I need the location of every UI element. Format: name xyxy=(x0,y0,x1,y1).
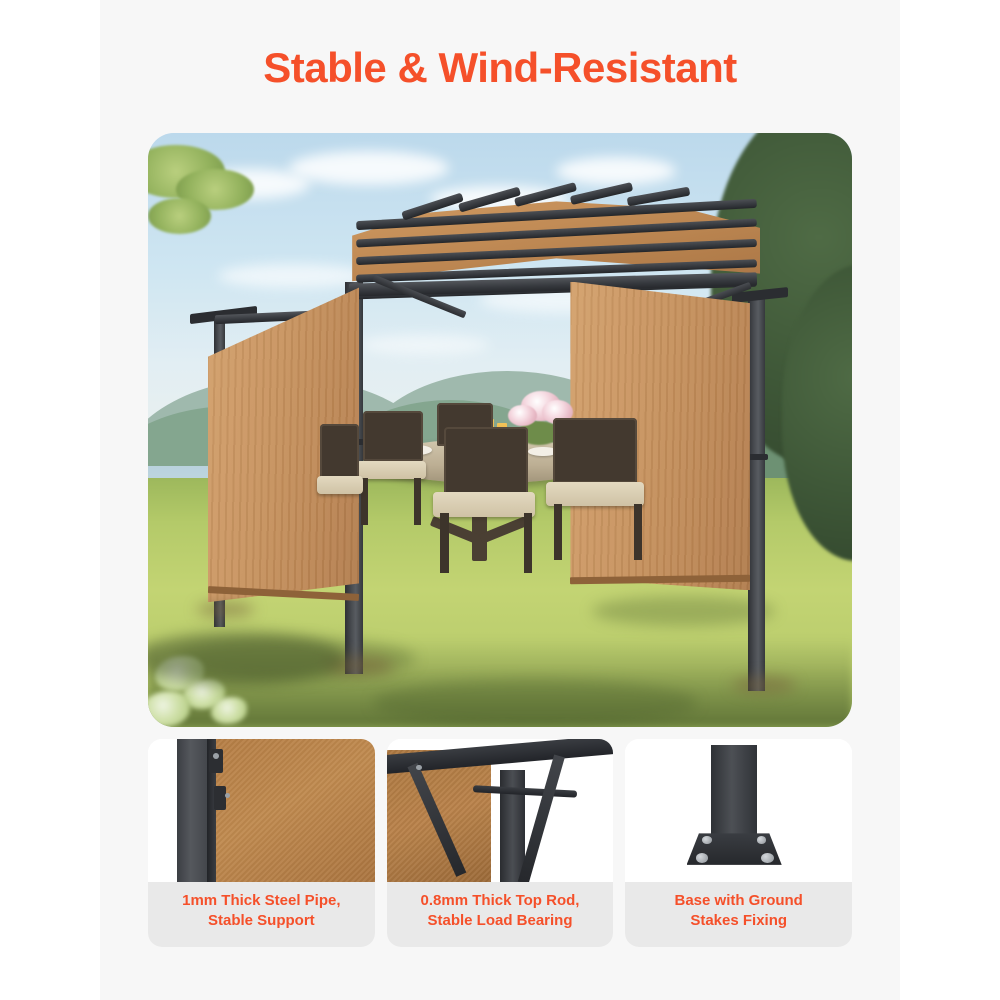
feature-card-ground-stakes[interactable]: Base with Ground Stakes Fixing xyxy=(625,739,852,947)
post-foot-shadow xyxy=(732,677,795,694)
post-foot-shadow xyxy=(197,602,253,616)
feature-card-image-steel-pipe xyxy=(148,739,375,882)
bracket-screw xyxy=(416,765,421,770)
feature-card-top-rod[interactable]: 0.8mm Thick Top Rod, Stable Load Bearing xyxy=(387,739,614,947)
canopy-fabric xyxy=(216,739,375,882)
chair-back xyxy=(363,411,423,461)
feature-card-image-top-rod xyxy=(387,739,614,882)
rafter-tip xyxy=(570,182,634,205)
feature-card-steel-pipe[interactable]: 1mm Thick Steel Pipe, Stable Support xyxy=(148,739,375,947)
chair-leg xyxy=(440,513,448,572)
post-front-right xyxy=(748,299,765,691)
bolt-hole xyxy=(757,836,767,843)
chair-cushion xyxy=(317,476,363,494)
pipe-screw xyxy=(213,753,219,759)
chair-back xyxy=(444,427,528,495)
pipe-clip-lower xyxy=(214,786,226,810)
chair-back xyxy=(320,424,359,477)
chair-cushion xyxy=(356,461,426,479)
flower-bouquet xyxy=(508,405,536,426)
feature-card-row: 1mm Thick Steel Pipe, Stable Support 0.8… xyxy=(148,739,852,947)
steel-pipe xyxy=(177,739,206,882)
feature-card-caption-steel-pipe: 1mm Thick Steel Pipe, Stable Support xyxy=(148,882,375,947)
chair-leg xyxy=(554,504,562,560)
feature-card-image-ground-stakes xyxy=(625,739,852,882)
feature-card-caption-top-rod: 0.8mm Thick Top Rod, Stable Load Bearing xyxy=(387,882,614,947)
product-feature-page: Stable & Wind-Resistant xyxy=(0,0,1000,1000)
bolt-hole xyxy=(702,836,712,843)
page-title: Stable & Wind-Resistant xyxy=(0,45,1000,91)
chair-cushion xyxy=(546,482,645,506)
chair-leg xyxy=(414,478,421,526)
feature-card-caption-ground-stakes: Base with Ground Stakes Fixing xyxy=(625,882,852,947)
photo-left-margin xyxy=(148,739,177,882)
hero-image xyxy=(148,133,852,727)
chair-back xyxy=(553,418,637,483)
chair-leg xyxy=(634,504,642,560)
foreground-foliage xyxy=(211,697,246,724)
chair-leg xyxy=(524,513,532,572)
